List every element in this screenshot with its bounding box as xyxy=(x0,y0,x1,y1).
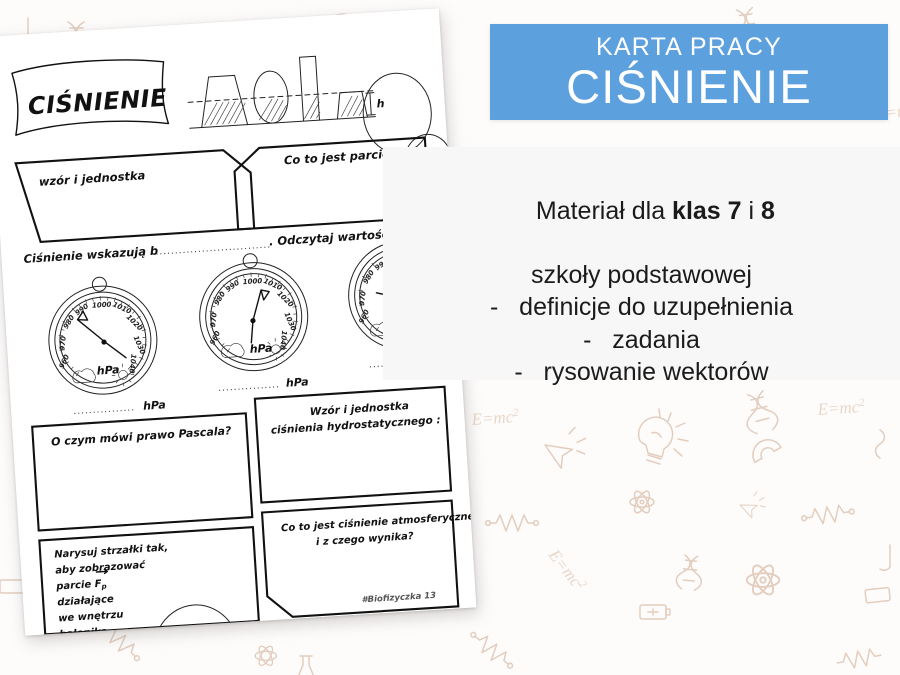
panel-intro-line2: szkoły podstawowej xyxy=(531,259,752,291)
panel-intro-mid: i xyxy=(742,197,761,225)
resistor-icon xyxy=(801,503,856,526)
battery-icon xyxy=(640,605,670,619)
panel-intro-line1: Materiał dla klas 7 i 8 xyxy=(508,163,775,259)
dna-helix-icon xyxy=(740,389,780,435)
banner-title: CIŚNIENIE xyxy=(566,63,812,110)
doodle-formula-text: E=mc2 xyxy=(816,397,866,419)
vessel-height-label: h xyxy=(376,97,385,110)
box-arrows-sub: p xyxy=(100,582,107,590)
atom-icon xyxy=(630,489,654,515)
panel-bullet-item: - rysowanie wektorów xyxy=(490,356,793,389)
gauge-tick-label: 970 xyxy=(209,312,219,328)
panel-intro-prefix: Materiał dla xyxy=(536,197,672,225)
gauge-tick-label: 1000 xyxy=(92,301,112,310)
panel-bullet-item: - definicje do uzupełnienia xyxy=(490,291,793,324)
info-panel: Materiał dla klas 7 i 8 szkoły podstawow… xyxy=(383,147,900,380)
magnet-icon xyxy=(748,434,781,462)
gauge-unit-label: hPa xyxy=(96,363,119,377)
cursor-arrow-icon xyxy=(738,490,770,520)
panel-intro-bold2: 8 xyxy=(761,197,775,225)
panel-bullet-list: - definicje do uzupełnienia - zadania - … xyxy=(490,291,793,389)
gauge-answer-unit: hPa xyxy=(286,375,309,389)
battery-icon xyxy=(865,587,890,602)
lightbulb-icon xyxy=(639,409,688,464)
gauge-tick-label: 1000 xyxy=(243,277,263,286)
cursor-arrow-icon xyxy=(543,426,591,471)
panel-intro-bold: klas 7 xyxy=(672,197,742,225)
atom-icon xyxy=(747,562,780,597)
gauge-tick-label: 970 xyxy=(58,335,68,351)
spiral-icon xyxy=(876,430,885,458)
header-banner: KARTA PRACY CIŚNIENIE xyxy=(490,24,888,120)
hook-shape-icon xyxy=(880,545,890,570)
gauge-answer-unit: hPa xyxy=(143,398,166,412)
dna-helix-icon xyxy=(675,554,703,590)
gauge-tick-label: 970 xyxy=(358,291,368,307)
panel-bullet-item: - zadania xyxy=(490,324,793,357)
banner-subtitle: KARTA PRACY xyxy=(596,34,782,60)
doodle-formula-text: E=mc2 xyxy=(544,545,589,595)
resistor-icon xyxy=(836,647,882,670)
